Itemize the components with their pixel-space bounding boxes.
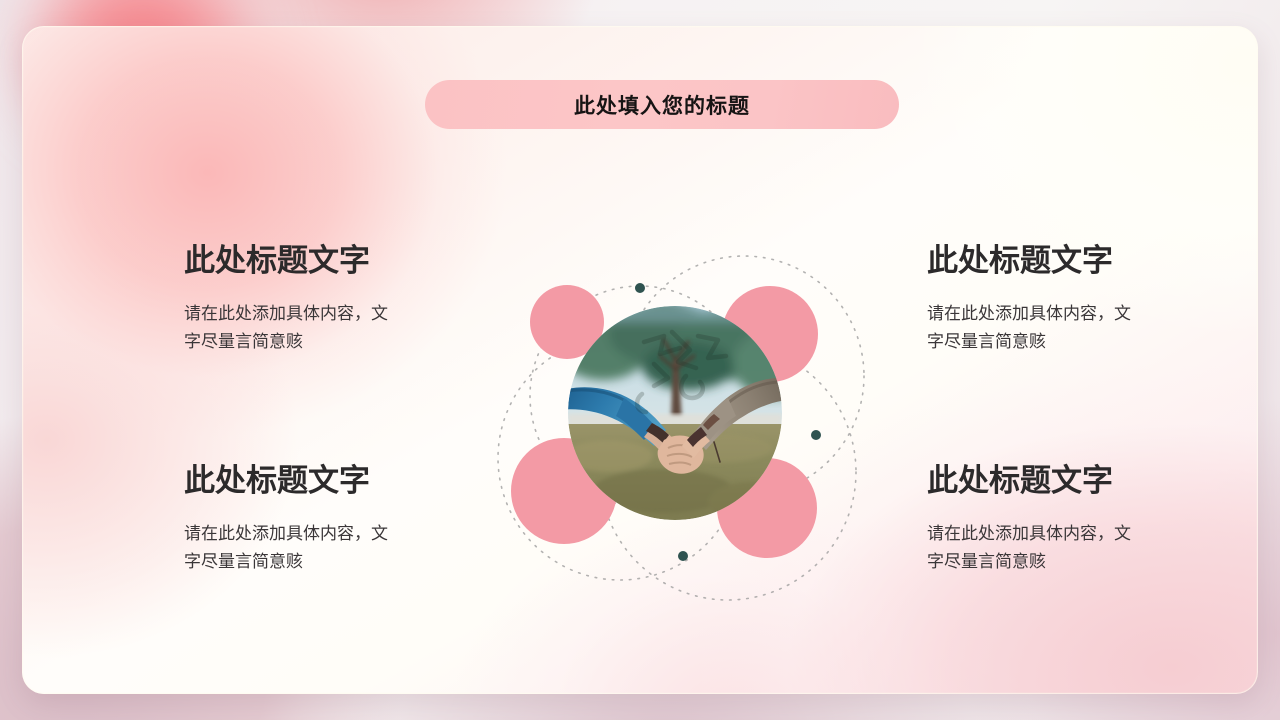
slide-card: 此处填入您的标题 [22, 26, 1258, 694]
text-block-heading: 此处标题文字 [927, 244, 1131, 278]
text-block-top-right: 此处标题文字 请在此处添加具体内容，文 字尽量言简意赅 [927, 244, 1131, 355]
text-block-top-left: 此处标题文字 请在此处添加具体内容，文 字尽量言简意赅 [184, 244, 388, 355]
text-block-body: 请在此处添加具体内容，文 字尽量言简意赅 [184, 520, 388, 575]
text-block-body: 请在此处添加具体内容，文 字尽量言简意赅 [927, 300, 1131, 355]
node-dot-bottom [678, 551, 688, 561]
slide-title-pill[interactable]: 此处填入您的标题 [425, 80, 899, 129]
text-block-heading: 此处标题文字 [184, 464, 388, 498]
slide-backdrop: 此处填入您的标题 [0, 0, 1280, 720]
text-block-body: 请在此处添加具体内容，文 字尽量言简意赅 [927, 520, 1131, 575]
photo-holding-hands [568, 306, 782, 520]
node-dot-top [635, 283, 645, 293]
center-photo-circle[interactable] [568, 306, 782, 520]
slide-title-text: 此处填入您的标题 [574, 90, 750, 120]
text-block-heading: 此处标题文字 [927, 464, 1131, 498]
text-block-bottom-right: 此处标题文字 请在此处添加具体内容，文 字尽量言简意赅 [927, 464, 1131, 575]
text-block-body: 请在此处添加具体内容，文 字尽量言简意赅 [184, 300, 388, 355]
text-block-bottom-left: 此处标题文字 请在此处添加具体内容，文 字尽量言简意赅 [184, 464, 388, 575]
text-block-heading: 此处标题文字 [184, 244, 388, 278]
node-dot-right [811, 430, 821, 440]
